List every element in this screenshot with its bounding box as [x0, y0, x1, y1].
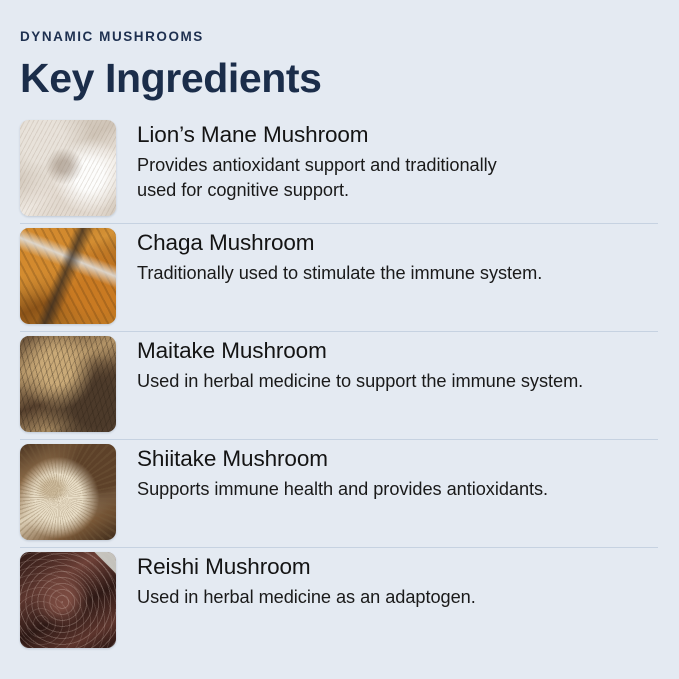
ingredient-list: Lion’s Mane Mushroom Provides antioxidan… — [20, 115, 659, 655]
brand-eyebrow: DYNAMIC MUSHROOMS — [20, 0, 659, 44]
list-item: Chaga Mushroom Traditionally used to sti… — [20, 223, 659, 331]
thumbnail-detail-layer — [20, 444, 116, 540]
ingredient-description: Supports immune health and provides anti… — [137, 473, 659, 501]
ingredient-name: Maitake Mushroom — [137, 337, 659, 365]
thumbnail-detail-layer — [20, 228, 116, 324]
ingredient-name: Shiitake Mushroom — [137, 445, 659, 473]
chaga-thumbnail — [20, 228, 116, 324]
list-item: Shiitake Mushroom Supports immune health… — [20, 439, 659, 547]
key-ingredients-panel: DYNAMIC MUSHROOMS Key Ingredients Lion’s… — [0, 0, 679, 679]
thumbnail-corner-highlight — [20, 552, 116, 648]
ingredient-name: Reishi Mushroom — [137, 553, 659, 581]
ingredient-body: Reishi Mushroom Used in herbal medicine … — [116, 547, 659, 610]
ingredient-body: Chaga Mushroom Traditionally used to sti… — [116, 223, 659, 286]
ingredient-body: Maitake Mushroom Used in herbal medicine… — [116, 331, 659, 394]
ingredient-body: Lion’s Mane Mushroom Provides antioxidan… — [116, 115, 659, 202]
maitake-thumbnail — [20, 336, 116, 432]
ingredient-description: Provides antioxidant support and traditi… — [137, 149, 659, 202]
reishi-thumbnail — [20, 552, 116, 648]
lions-mane-thumbnail — [20, 120, 116, 216]
ingredient-name: Lion’s Mane Mushroom — [137, 121, 659, 149]
ingredient-description: Traditionally used to stimulate the immu… — [137, 257, 659, 285]
thumbnail-detail-layer — [20, 336, 116, 432]
shiitake-thumbnail — [20, 444, 116, 540]
list-item: Maitake Mushroom Used in herbal medicine… — [20, 331, 659, 439]
list-item: Reishi Mushroom Used in herbal medicine … — [20, 547, 659, 655]
ingredient-name: Chaga Mushroom — [137, 229, 659, 257]
ingredient-description: Used in herbal medicine as an adaptogen. — [137, 581, 659, 609]
thumbnail-detail-layer — [20, 120, 116, 216]
list-item: Lion’s Mane Mushroom Provides antioxidan… — [20, 115, 659, 223]
ingredient-body: Shiitake Mushroom Supports immune health… — [116, 439, 659, 502]
ingredient-description: Used in herbal medicine to support the i… — [137, 365, 659, 393]
page-title: Key Ingredients — [20, 44, 659, 100]
